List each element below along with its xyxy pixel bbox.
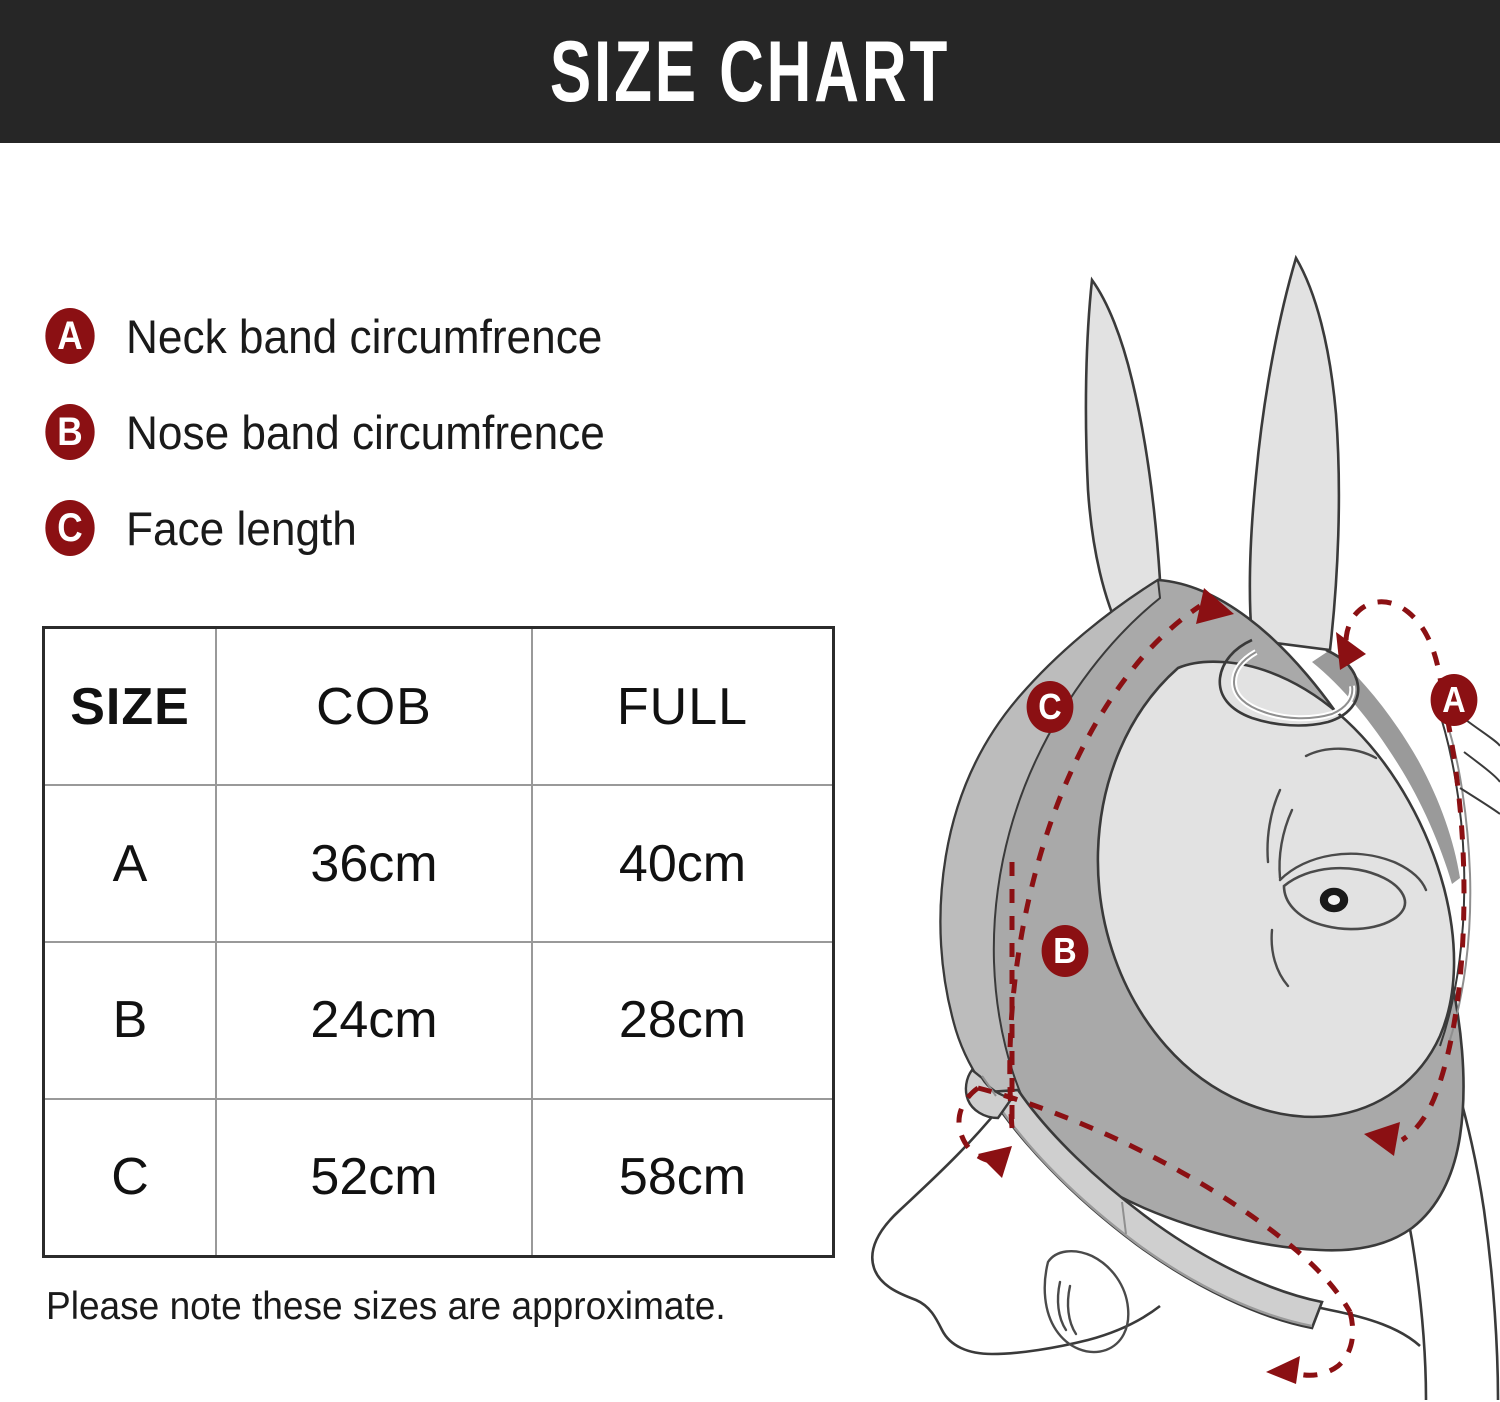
table-header-cob: COB <box>216 628 532 786</box>
cell-a-cob: 36cm <box>216 785 532 942</box>
size-table: SIZE COB FULL A 36cm 40cm B 24cm 28cm C … <box>42 626 835 1258</box>
cell-a-full: 40cm <box>532 785 834 942</box>
legend-label-b: Nose band circumfrence <box>126 405 605 460</box>
cell-b-full: 28cm <box>532 942 834 1099</box>
page-title: SIZE CHART <box>550 29 950 115</box>
measure-arrow-b-bottom <box>1266 1356 1300 1384</box>
row-key-c: C <box>44 1099 217 1257</box>
diagram-badge-a-icon: A <box>1431 674 1478 726</box>
legend-item-b: B Nose band circumfrence <box>42 384 802 480</box>
legend-item-c: C Face length <box>42 480 802 576</box>
diagram-badge-b-icon: B <box>1042 925 1089 977</box>
legend-badge-c-icon: C <box>45 500 94 556</box>
legend-badge-b-icon: B <box>45 404 94 460</box>
cell-c-cob: 52cm <box>216 1099 532 1257</box>
horse-mask-diagram <box>860 250 1500 1400</box>
legend-label-c: Face length <box>126 501 357 556</box>
diagram-badge-c-icon: C <box>1027 681 1074 733</box>
approximate-size-note: Please note these sizes are approximate. <box>46 1285 726 1329</box>
cell-c-full: 58cm <box>532 1099 834 1257</box>
legend-label-a: Neck band circumfrence <box>126 309 602 364</box>
table-header-size: SIZE <box>44 628 217 786</box>
row-key-a: A <box>44 785 217 942</box>
legend-badge-a-icon: A <box>45 308 94 364</box>
table-row: B 24cm 28cm <box>44 942 834 1099</box>
table-row: A 36cm 40cm <box>44 785 834 942</box>
horse-ear-right <box>1250 258 1339 650</box>
horse-ear-left <box>1086 280 1160 636</box>
measurement-legend: A Neck band circumfrence B Nose band cir… <box>42 288 802 576</box>
table-header-row: SIZE COB FULL <box>44 628 834 786</box>
legend-item-a: A Neck band circumfrence <box>42 288 802 384</box>
row-key-b: B <box>44 942 217 1099</box>
measure-arrow-a-top <box>1336 632 1366 670</box>
cell-b-cob: 24cm <box>216 942 532 1099</box>
page-header: SIZE CHART <box>0 0 1500 143</box>
mask-rear-straps <box>1460 720 1500 814</box>
table-row: C 52cm 58cm <box>44 1099 834 1257</box>
table-header-full: FULL <box>532 628 834 786</box>
